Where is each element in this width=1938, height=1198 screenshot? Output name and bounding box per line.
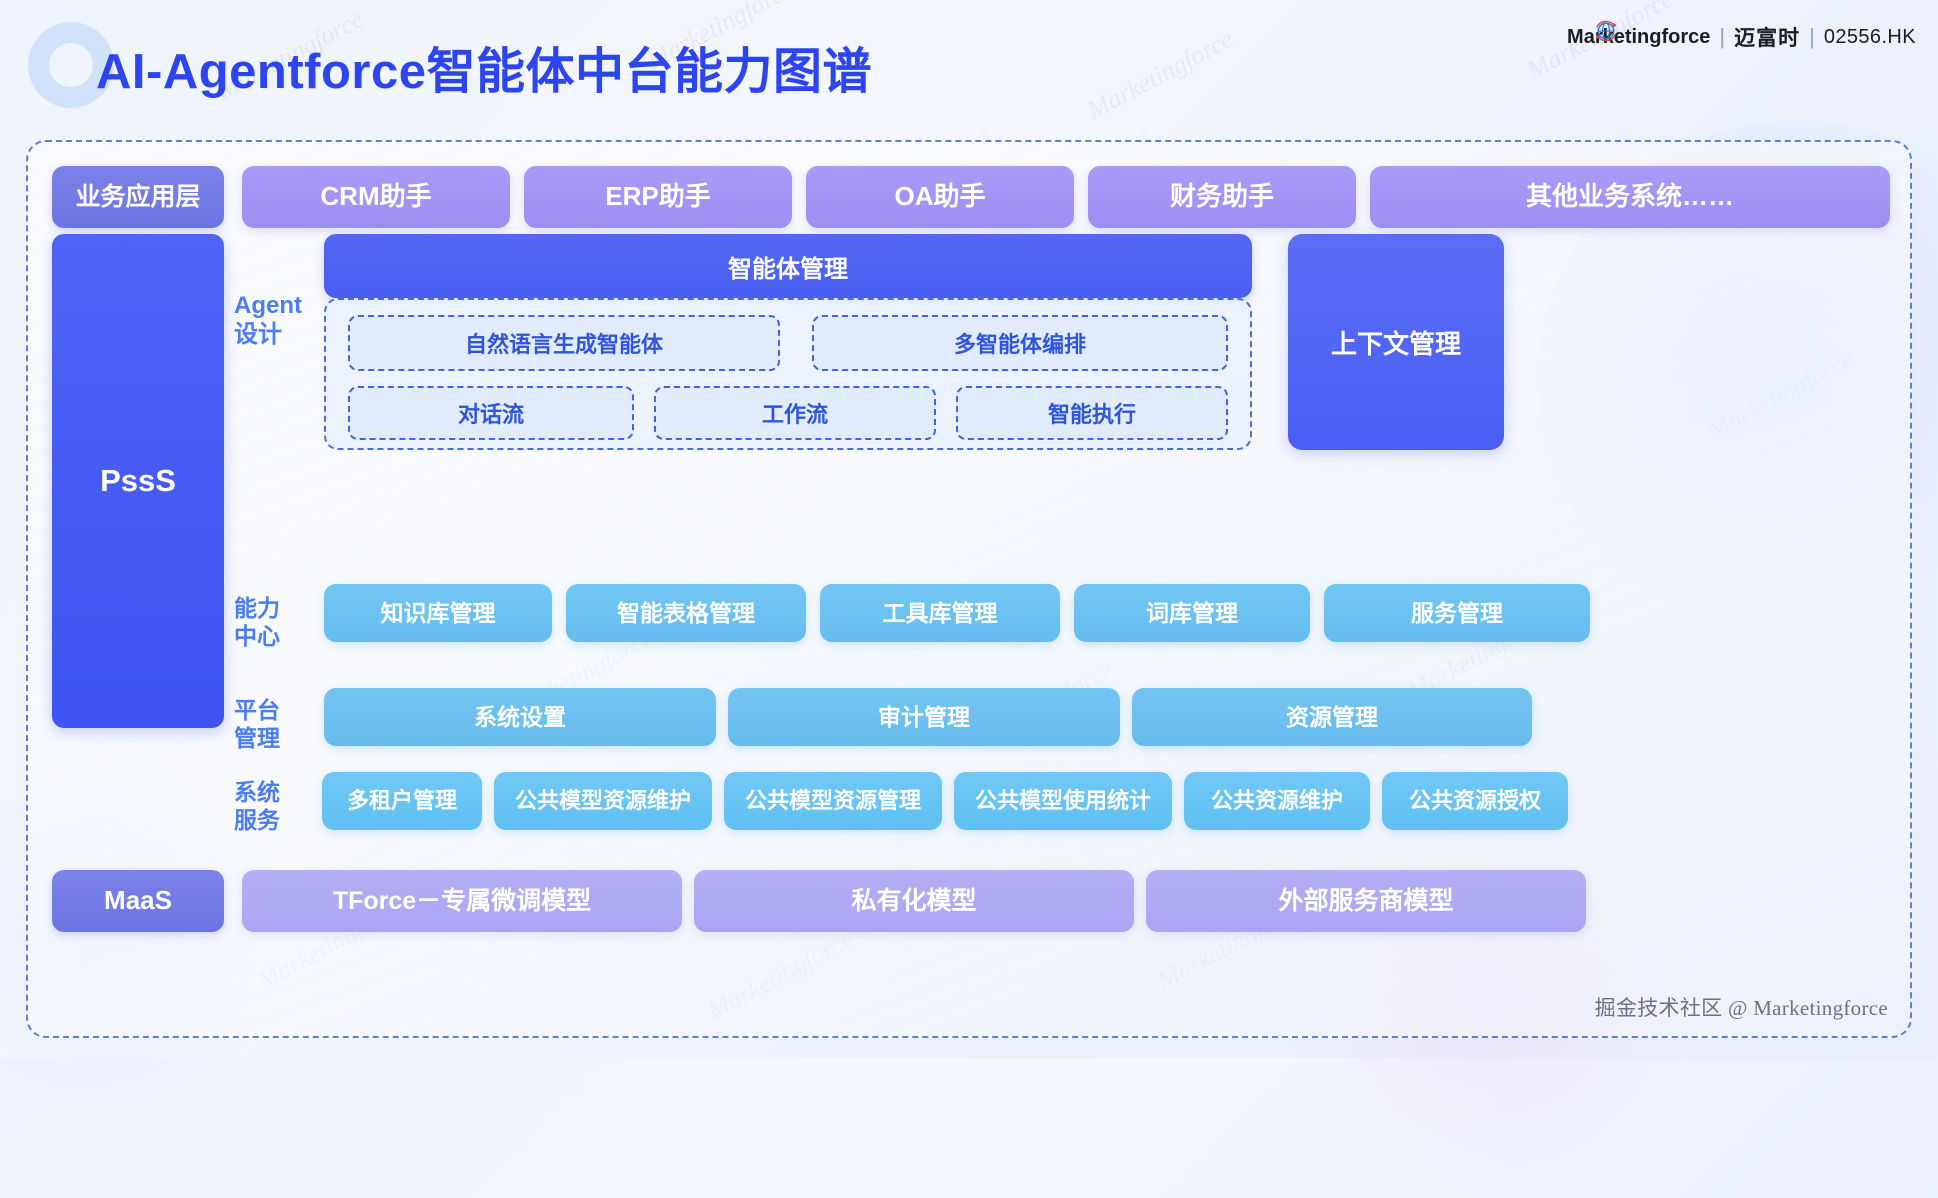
- architecture-diagram-frame: 业务应用层 CRM助手 ERP助手 OA助手 财务助手 其他业务系统…… Pss…: [26, 140, 1912, 1038]
- brand-separator: |: [1719, 24, 1725, 50]
- business-app-other[interactable]: 其他业务系统……: [1370, 166, 1890, 228]
- platform-audit-management[interactable]: 审计管理: [728, 688, 1120, 746]
- section-label-agent-cn: 设计: [234, 321, 330, 350]
- stock-code: 02556.HK: [1824, 26, 1916, 49]
- system-public-model-stats[interactable]: 公共模型使用统计: [954, 772, 1172, 830]
- capability-lexicon[interactable]: 词库管理: [1074, 584, 1310, 642]
- system-multi-tenant[interactable]: 多租户管理: [322, 772, 482, 830]
- page-header: AI-Agentforce智能体中台能力图谱 Marketingforce | …: [0, 0, 1938, 118]
- section-label-agent-design: Agent 设计: [234, 292, 330, 350]
- layer-label-maas: MaaS: [52, 870, 224, 932]
- section-label-capability-line2: 中心: [234, 622, 324, 650]
- capability-smart-table[interactable]: 智能表格管理: [566, 584, 806, 642]
- agent-smart-execute[interactable]: 智能执行: [956, 386, 1228, 440]
- system-public-resource-maintain[interactable]: 公共资源维护: [1184, 772, 1370, 830]
- agent-nl-generate[interactable]: 自然语言生成智能体: [348, 315, 780, 371]
- capability-knowledge-base[interactable]: 知识库管理: [324, 584, 552, 642]
- business-app-erp[interactable]: ERP助手: [524, 166, 792, 228]
- layer-label-business: 业务应用层: [52, 166, 224, 228]
- section-label-system-line1: 系统: [234, 778, 324, 806]
- maas-tforce-model[interactable]: TForce－专属微调模型: [242, 870, 682, 932]
- credit-text: 掘金技术社区 @ Marketingforce: [1595, 992, 1888, 1022]
- platform-column-psss: PssS: [52, 234, 224, 728]
- platform-system-settings[interactable]: 系统设置: [324, 688, 716, 746]
- section-label-platform-line2: 管理: [234, 724, 324, 752]
- section-label-platform-line1: 平台: [234, 696, 324, 724]
- business-app-finance[interactable]: 财务助手: [1088, 166, 1356, 228]
- system-public-model-maintain[interactable]: 公共模型资源维护: [494, 772, 712, 830]
- business-app-oa[interactable]: OA助手: [806, 166, 1074, 228]
- agent-multi-orchestration[interactable]: 多智能体编排: [812, 315, 1228, 371]
- section-label-agent-en: Agent: [234, 292, 330, 321]
- brand-separator: |: [1809, 24, 1815, 50]
- globe-icon: [1593, 18, 1619, 44]
- business-app-crm[interactable]: CRM助手: [242, 166, 510, 228]
- capability-tool-library[interactable]: 工具库管理: [820, 584, 1060, 642]
- brand-name-cn: 迈富时: [1734, 22, 1800, 52]
- section-label-capability-center: 能力 中心: [234, 594, 324, 650]
- system-public-model-manage[interactable]: 公共模型资源管理: [724, 772, 942, 830]
- capability-service[interactable]: 服务管理: [1324, 584, 1590, 642]
- maas-private-model[interactable]: 私有化模型: [694, 870, 1134, 932]
- brand-name: Marketingforce: [1567, 26, 1710, 49]
- agent-management-bar[interactable]: 智能体管理: [324, 234, 1252, 298]
- brand-logo: Marketingforce | 迈富时 | 02556.HK: [1567, 22, 1916, 52]
- section-label-system-services: 系统 服务: [234, 778, 324, 834]
- agent-dialog-flow[interactable]: 对话流: [348, 386, 634, 440]
- context-management[interactable]: 上下文管理: [1288, 234, 1504, 450]
- section-label-capability-line1: 能力: [234, 594, 324, 622]
- section-label-platform-management: 平台 管理: [234, 696, 324, 752]
- agent-workflow[interactable]: 工作流: [654, 386, 936, 440]
- platform-resource-management[interactable]: 资源管理: [1132, 688, 1532, 746]
- section-label-system-line2: 服务: [234, 806, 324, 834]
- page-title: AI-Agentforce智能体中台能力图谱: [96, 32, 872, 103]
- maas-external-provider-model[interactable]: 外部服务商模型: [1146, 870, 1586, 932]
- system-public-resource-auth[interactable]: 公共资源授权: [1382, 772, 1568, 830]
